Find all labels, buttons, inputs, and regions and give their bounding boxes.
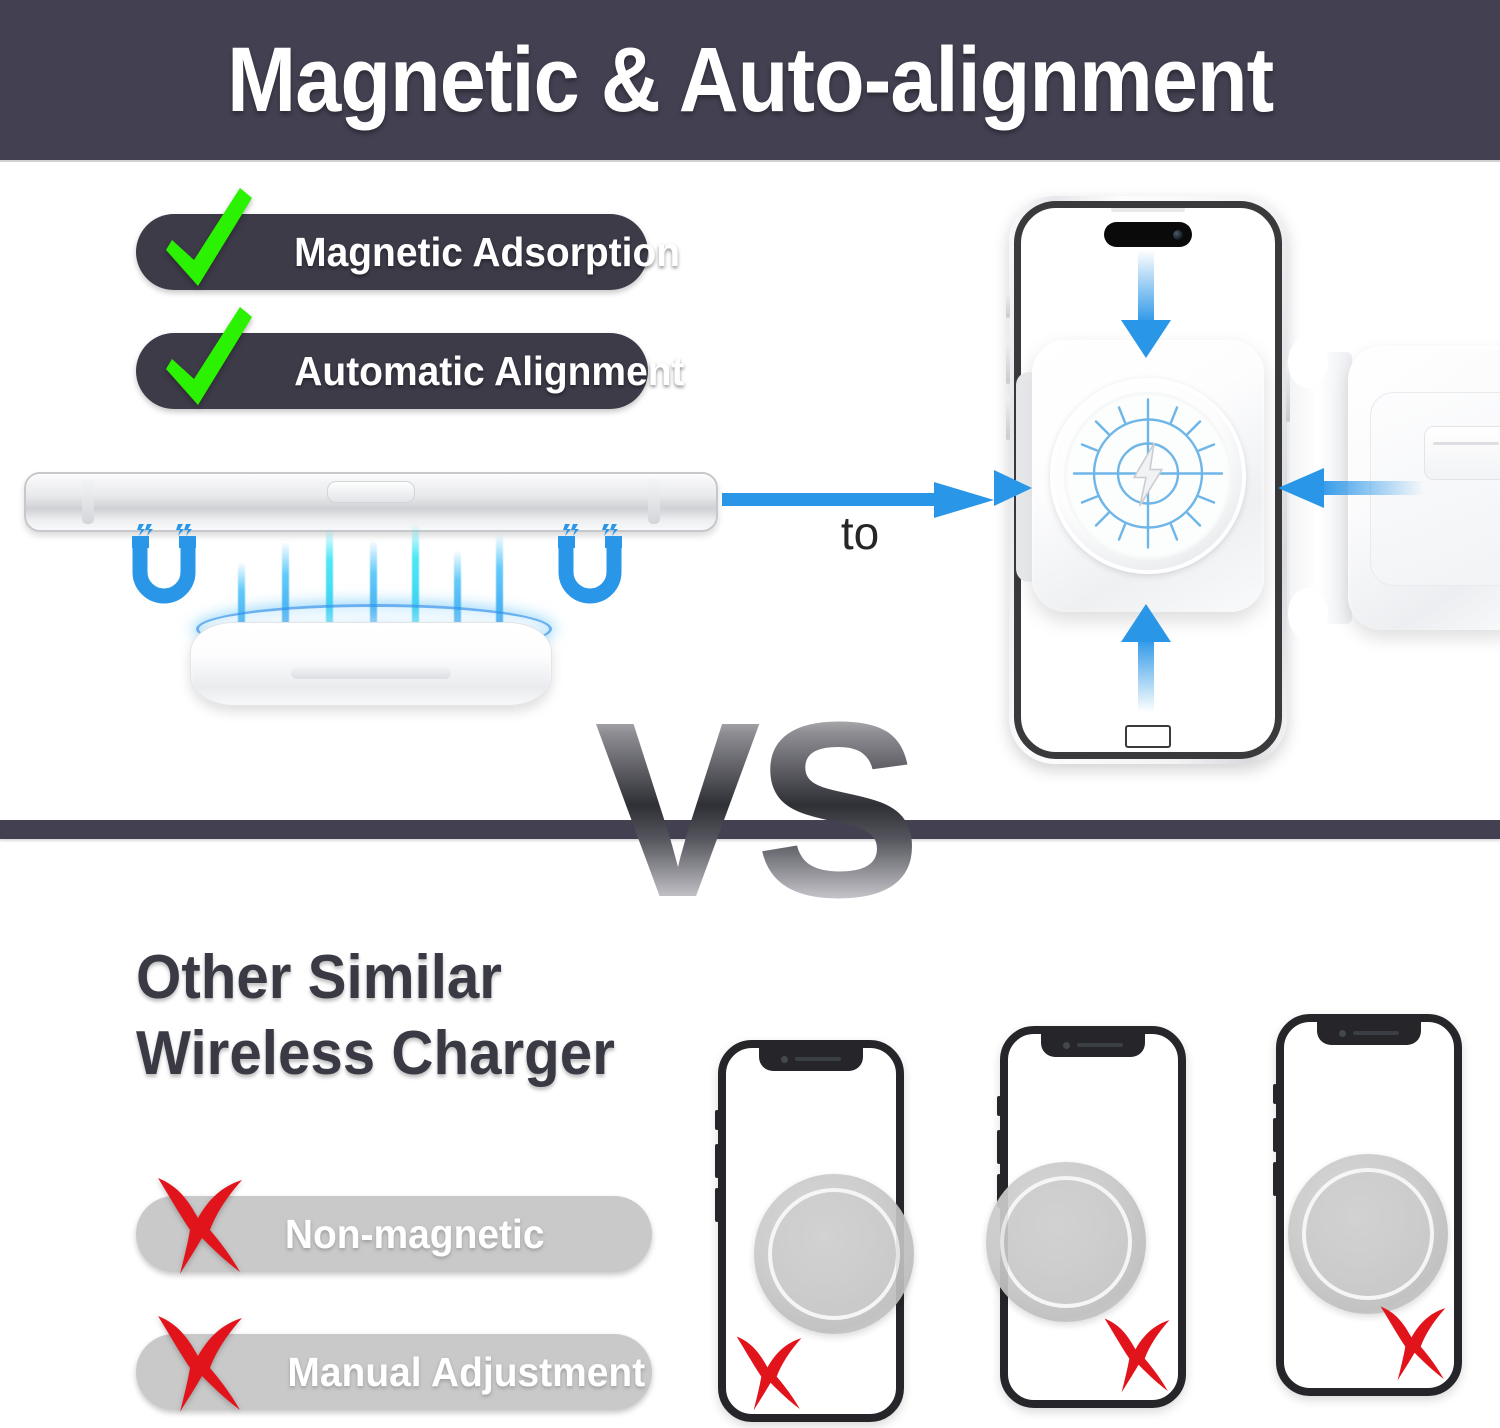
phone-mute-switch [997, 1096, 1001, 1116]
front-camera-icon [1063, 1042, 1070, 1049]
alignment-arrow-right-icon [980, 462, 1036, 514]
phone-volume-down-button [715, 1188, 719, 1222]
badge-magnetic-adsorption[interactable]: Magnetic Adsorption [136, 214, 648, 290]
dynamic-island [1104, 222, 1192, 247]
charging-pad-offset [754, 1174, 914, 1334]
magsafe-ring [1050, 378, 1246, 574]
horseshoe-magnet-icon [556, 522, 624, 608]
phone-charging-port [1125, 725, 1171, 748]
phone-mute-switch [1006, 292, 1010, 318]
phone-volume-down-button [1006, 396, 1010, 440]
vs-badge: VS [575, 690, 935, 940]
header-bar: Magnetic & Auto-alignment [0, 0, 1500, 160]
horseshoe-magnet-icon [130, 522, 198, 608]
front-camera-icon [781, 1056, 788, 1063]
earpiece-speaker [795, 1057, 841, 1061]
phone-misaligned-3 [1276, 1014, 1462, 1396]
phone-earpiece-speaker [1111, 207, 1185, 212]
page-title: Magnetic & Auto-alignment [227, 34, 1273, 126]
phone-volume-up-button [1006, 340, 1010, 384]
alignment-arrow-down-icon [1117, 250, 1175, 360]
check-icon [158, 188, 254, 292]
charger-pad-lip [291, 667, 451, 679]
phone-mute-switch [1273, 1084, 1277, 1104]
charger-watch-tab [1424, 426, 1500, 480]
subheading-line-2: Wireless Charger [136, 1016, 719, 1092]
x-mark-icon [1100, 1314, 1174, 1394]
phone-notch [759, 1047, 863, 1071]
section-subheading: Other Similar Wireless Charger [136, 940, 719, 1092]
front-camera-icon [1173, 230, 1183, 240]
badge-label: Non-magnetic [285, 1214, 545, 1255]
phone-notch [1041, 1033, 1145, 1057]
badge-label: Magnetic Adsorption [294, 232, 680, 273]
phone-side-button [327, 481, 415, 503]
badge-non-magnetic[interactable]: Non-magnetic [136, 1196, 652, 1272]
badge-automatic-alignment[interactable]: Automatic Alignment [136, 333, 648, 409]
check-icon [158, 307, 254, 411]
badge-label: Automatic Alignment [294, 351, 684, 392]
x-mark-icon [732, 1332, 806, 1412]
phone-volume-up-button [997, 1130, 1001, 1164]
alignment-arrow-up-icon [1117, 600, 1175, 712]
phone-volume-down-button [1273, 1162, 1277, 1196]
badge-manual-adjustment[interactable]: Manual Adjustment [136, 1334, 652, 1410]
wireless-charger-pad [190, 622, 552, 706]
phone-misaligned-2 [1000, 1026, 1186, 1408]
phone-volume-up-button [1273, 1118, 1277, 1152]
magsafe-charger-pad [1032, 340, 1264, 612]
x-mark-icon [1376, 1302, 1450, 1382]
subheading-line-1: Other Similar [136, 940, 719, 1016]
crosshair-target-icon [1068, 394, 1228, 559]
section-divider [0, 820, 1500, 839]
transition-label: to [800, 510, 920, 556]
badge-label: Manual Adjustment [287, 1352, 645, 1393]
earpiece-speaker [1353, 1031, 1399, 1035]
earpiece-speaker [1077, 1043, 1123, 1047]
phone-notch [1317, 1021, 1421, 1045]
phone-volume-up-button [715, 1144, 719, 1178]
x-mark-icon [152, 1174, 248, 1274]
phone-misaligned-1 [718, 1040, 904, 1422]
phone-mute-switch [715, 1110, 719, 1130]
charger-tab-line [1433, 442, 1499, 445]
charging-pad-offset [1288, 1154, 1448, 1314]
alignment-arrow-left-icon [1276, 462, 1424, 514]
x-mark-icon [152, 1312, 248, 1412]
front-camera-icon [1339, 1030, 1346, 1037]
vs-label: VS [575, 690, 935, 930]
charging-pad-offset [986, 1162, 1146, 1322]
